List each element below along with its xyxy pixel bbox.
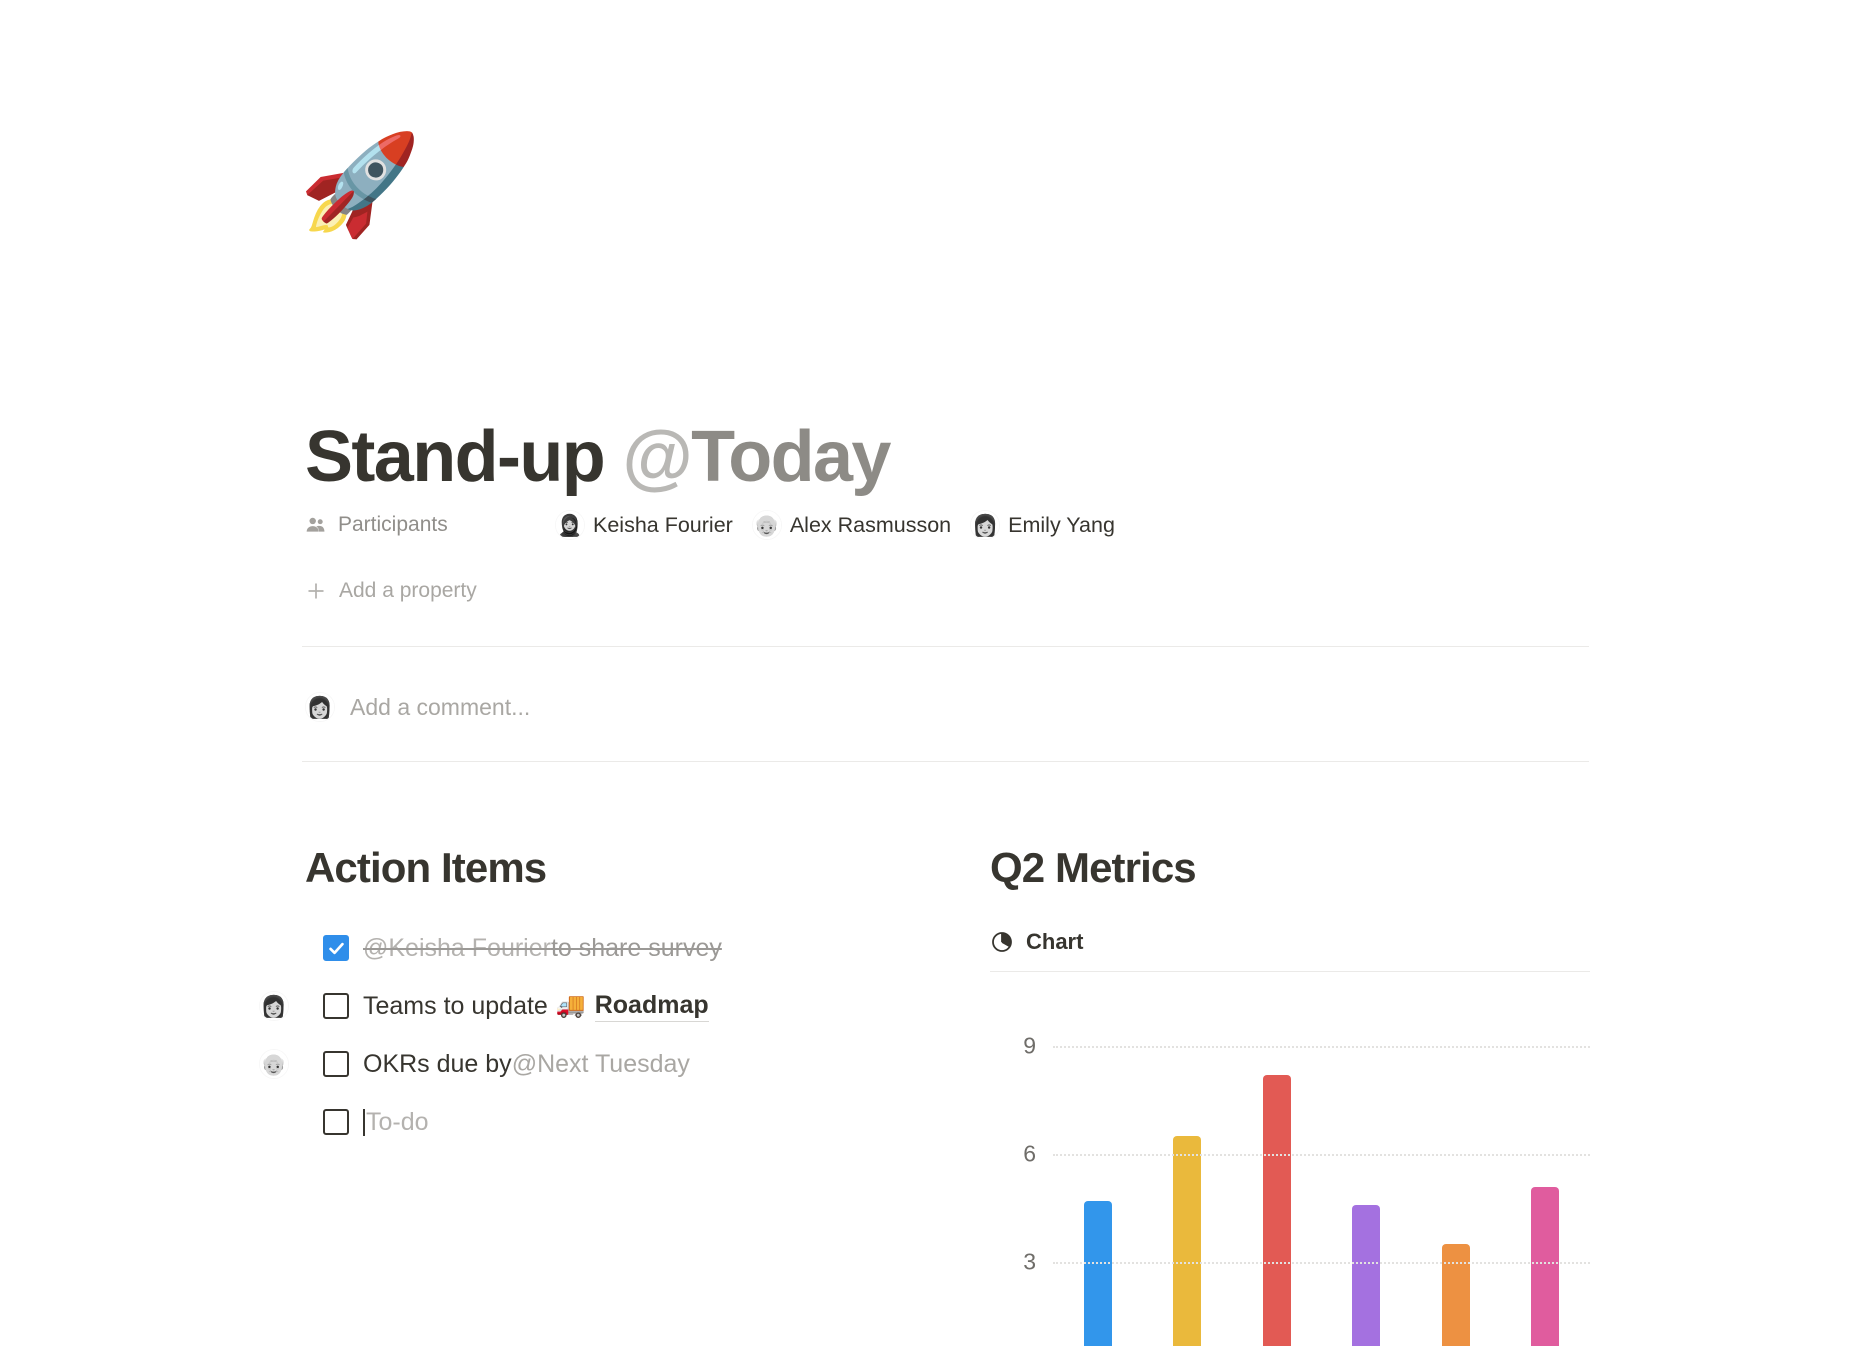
participant-name: Emily Yang bbox=[1008, 513, 1115, 538]
people-icon bbox=[305, 514, 327, 536]
chart-y-axis-tick: 6 bbox=[990, 1141, 1036, 1168]
chart-gridline bbox=[1053, 1262, 1590, 1264]
tab-chart-label: Chart bbox=[1026, 929, 1083, 955]
avatar: 👩 bbox=[970, 510, 1000, 540]
avatar: 🧕 bbox=[555, 510, 585, 540]
chart-y-axis-tick: 9 bbox=[990, 1033, 1036, 1060]
todo-placeholder: To-do bbox=[366, 1108, 429, 1137]
todo-label: OKRs due by bbox=[363, 1050, 512, 1079]
property-value-participants[interactable]: 🧕 Keisha Fourier 👴 Alex Rasmusson 👩 Emil… bbox=[555, 510, 1115, 540]
metrics-section: Q2 Metrics Chart 369 bbox=[990, 845, 1600, 1346]
property-row-participants: Participants 🧕 Keisha Fourier 👴 Alex Ras… bbox=[305, 508, 1115, 542]
chart-bar[interactable] bbox=[1352, 1205, 1380, 1346]
avatar: 👴 bbox=[752, 510, 782, 540]
participant-name: Alex Rasmusson bbox=[790, 513, 951, 538]
avatar: 👴 bbox=[259, 1049, 289, 1079]
checkbox-unchecked[interactable] bbox=[323, 1051, 349, 1077]
todo-item[interactable]: 👩 Teams to update 🚚Roadmap bbox=[305, 983, 945, 1029]
checkbox-unchecked[interactable] bbox=[323, 993, 349, 1019]
chart-gridline bbox=[1053, 1154, 1590, 1156]
participant-chip[interactable]: 👩 Emily Yang bbox=[970, 510, 1115, 540]
metrics-heading: Q2 Metrics bbox=[990, 845, 1600, 891]
bar-chart[interactable]: 369 bbox=[990, 1010, 1600, 1346]
chart-bars bbox=[1053, 1010, 1590, 1346]
divider-above-comment bbox=[302, 646, 1589, 647]
comment-input-placeholder[interactable]: Add a comment... bbox=[350, 694, 530, 721]
chart-bar[interactable] bbox=[1173, 1136, 1201, 1346]
participant-chip[interactable]: 🧕 Keisha Fourier bbox=[555, 510, 733, 540]
chart-bar[interactable] bbox=[1263, 1075, 1291, 1346]
page-title-main: Stand-up bbox=[305, 417, 623, 497]
avatar: 👩 bbox=[259, 991, 289, 1021]
page-title-at-symbol: @ bbox=[623, 417, 692, 497]
add-comment-row[interactable]: 👩 Add a comment... bbox=[305, 687, 530, 727]
mention-person[interactable]: @Keisha Fourier bbox=[363, 934, 551, 963]
truck-icon: 🚚 bbox=[556, 994, 586, 1018]
chart-divider bbox=[990, 971, 1590, 972]
todo-item-empty[interactable]: To-do bbox=[305, 1099, 945, 1145]
tab-chart[interactable]: Chart bbox=[990, 925, 1600, 959]
checkbox-unchecked[interactable] bbox=[323, 1109, 349, 1135]
add-property-label: Add a property bbox=[339, 579, 477, 603]
participant-name: Keisha Fourier bbox=[593, 513, 733, 538]
chart-bar[interactable] bbox=[1531, 1187, 1559, 1346]
todo-label: Teams to update bbox=[363, 992, 548, 1021]
add-property-button[interactable]: Add a property bbox=[305, 576, 477, 606]
todo-text[interactable]: @Keisha Fourier to share survey bbox=[363, 934, 722, 963]
chart-bar[interactable] bbox=[1084, 1201, 1112, 1346]
todo-item[interactable]: @Keisha Fourier to share survey bbox=[305, 925, 945, 971]
participant-chip[interactable]: 👴 Alex Rasmusson bbox=[752, 510, 951, 540]
page-title[interactable]: Stand-up @Today bbox=[305, 420, 890, 496]
chart-bar[interactable] bbox=[1442, 1244, 1470, 1346]
action-items-heading: Action Items bbox=[305, 845, 945, 891]
divider-below-comment bbox=[302, 761, 1589, 762]
chart-y-axis-tick: 3 bbox=[990, 1249, 1036, 1276]
todo-label: to share survey bbox=[551, 934, 722, 963]
todo-text-input[interactable]: To-do bbox=[363, 1108, 429, 1137]
pie-chart-icon bbox=[990, 930, 1014, 954]
mention-date[interactable]: @Next Tuesday bbox=[512, 1050, 690, 1079]
rocket-icon[interactable]: 🚀 bbox=[299, 135, 421, 233]
todo-text[interactable]: OKRs due by @Next Tuesday bbox=[363, 1050, 690, 1079]
todo-text[interactable]: Teams to update 🚚Roadmap bbox=[363, 991, 709, 1022]
notion-page: 🚀 Stand-up @Today Participants 🧕 Keisha … bbox=[0, 0, 1873, 1346]
property-label-participants: Participants bbox=[338, 513, 448, 537]
page-title-date-mention[interactable]: Today bbox=[691, 417, 890, 497]
plus-icon bbox=[305, 580, 327, 602]
chart-gridline bbox=[1053, 1046, 1590, 1048]
todo-item[interactable]: 👴 OKRs due by @Next Tuesday bbox=[305, 1041, 945, 1087]
action-items-section: Action Items @Keisha Fourier to share su… bbox=[305, 845, 945, 1157]
property-key-participants[interactable]: Participants bbox=[305, 513, 555, 537]
checkbox-checked[interactable] bbox=[323, 935, 349, 961]
page-link-roadmap[interactable]: Roadmap bbox=[595, 991, 709, 1022]
avatar: 👩 bbox=[305, 692, 335, 722]
text-cursor bbox=[363, 1109, 365, 1136]
